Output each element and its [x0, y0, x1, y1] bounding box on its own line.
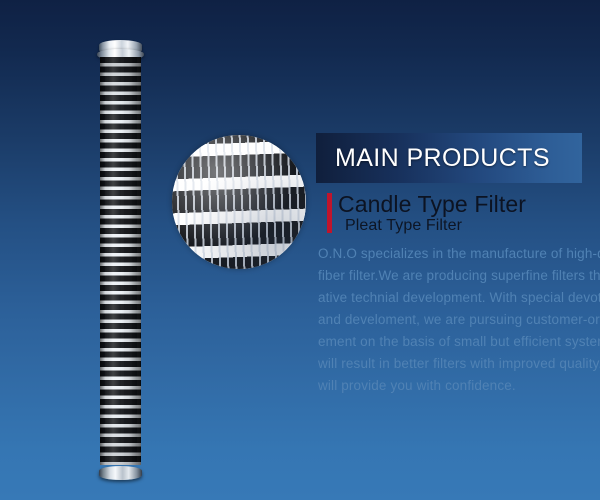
product-title-secondary: Pleat Type Filter [345, 217, 462, 235]
description-line: and develoment, we are pursuing customer… [318, 309, 600, 331]
cartridge-vertical-shading [100, 57, 141, 465]
description-line: O.N.O specializes in the manufacture of … [318, 243, 600, 265]
cartridge-perforated-body [100, 57, 141, 465]
cartridge-bottom-cap [99, 466, 142, 480]
product-showcase-banner: MAIN PRODUCTS Candle Type Filter Pleat T… [0, 0, 600, 500]
mesh-weave-pattern [172, 135, 306, 269]
description-line: ative technial development. With special… [318, 287, 600, 309]
description-line: will provide you with confidence. [318, 375, 600, 397]
cartridge-horizontal-shading [100, 57, 141, 465]
description-line: fiber filter.We are producing superfine … [318, 265, 600, 287]
mesh-detail-circle [172, 135, 306, 269]
main-products-banner: MAIN PRODUCTS [316, 133, 582, 183]
red-accent-bar [327, 193, 332, 233]
description-line: will result in better filters with impro… [318, 353, 600, 375]
candle-filter-cartridge-image [99, 40, 142, 480]
banner-title: MAIN PRODUCTS [335, 144, 550, 173]
product-title-primary: Candle Type Filter [338, 191, 526, 218]
mesh-slat-overlay [172, 135, 306, 269]
product-description: O.N.O specializes in the manufacture of … [318, 243, 600, 397]
description-line: ement on the basis of small but efficien… [318, 331, 600, 353]
